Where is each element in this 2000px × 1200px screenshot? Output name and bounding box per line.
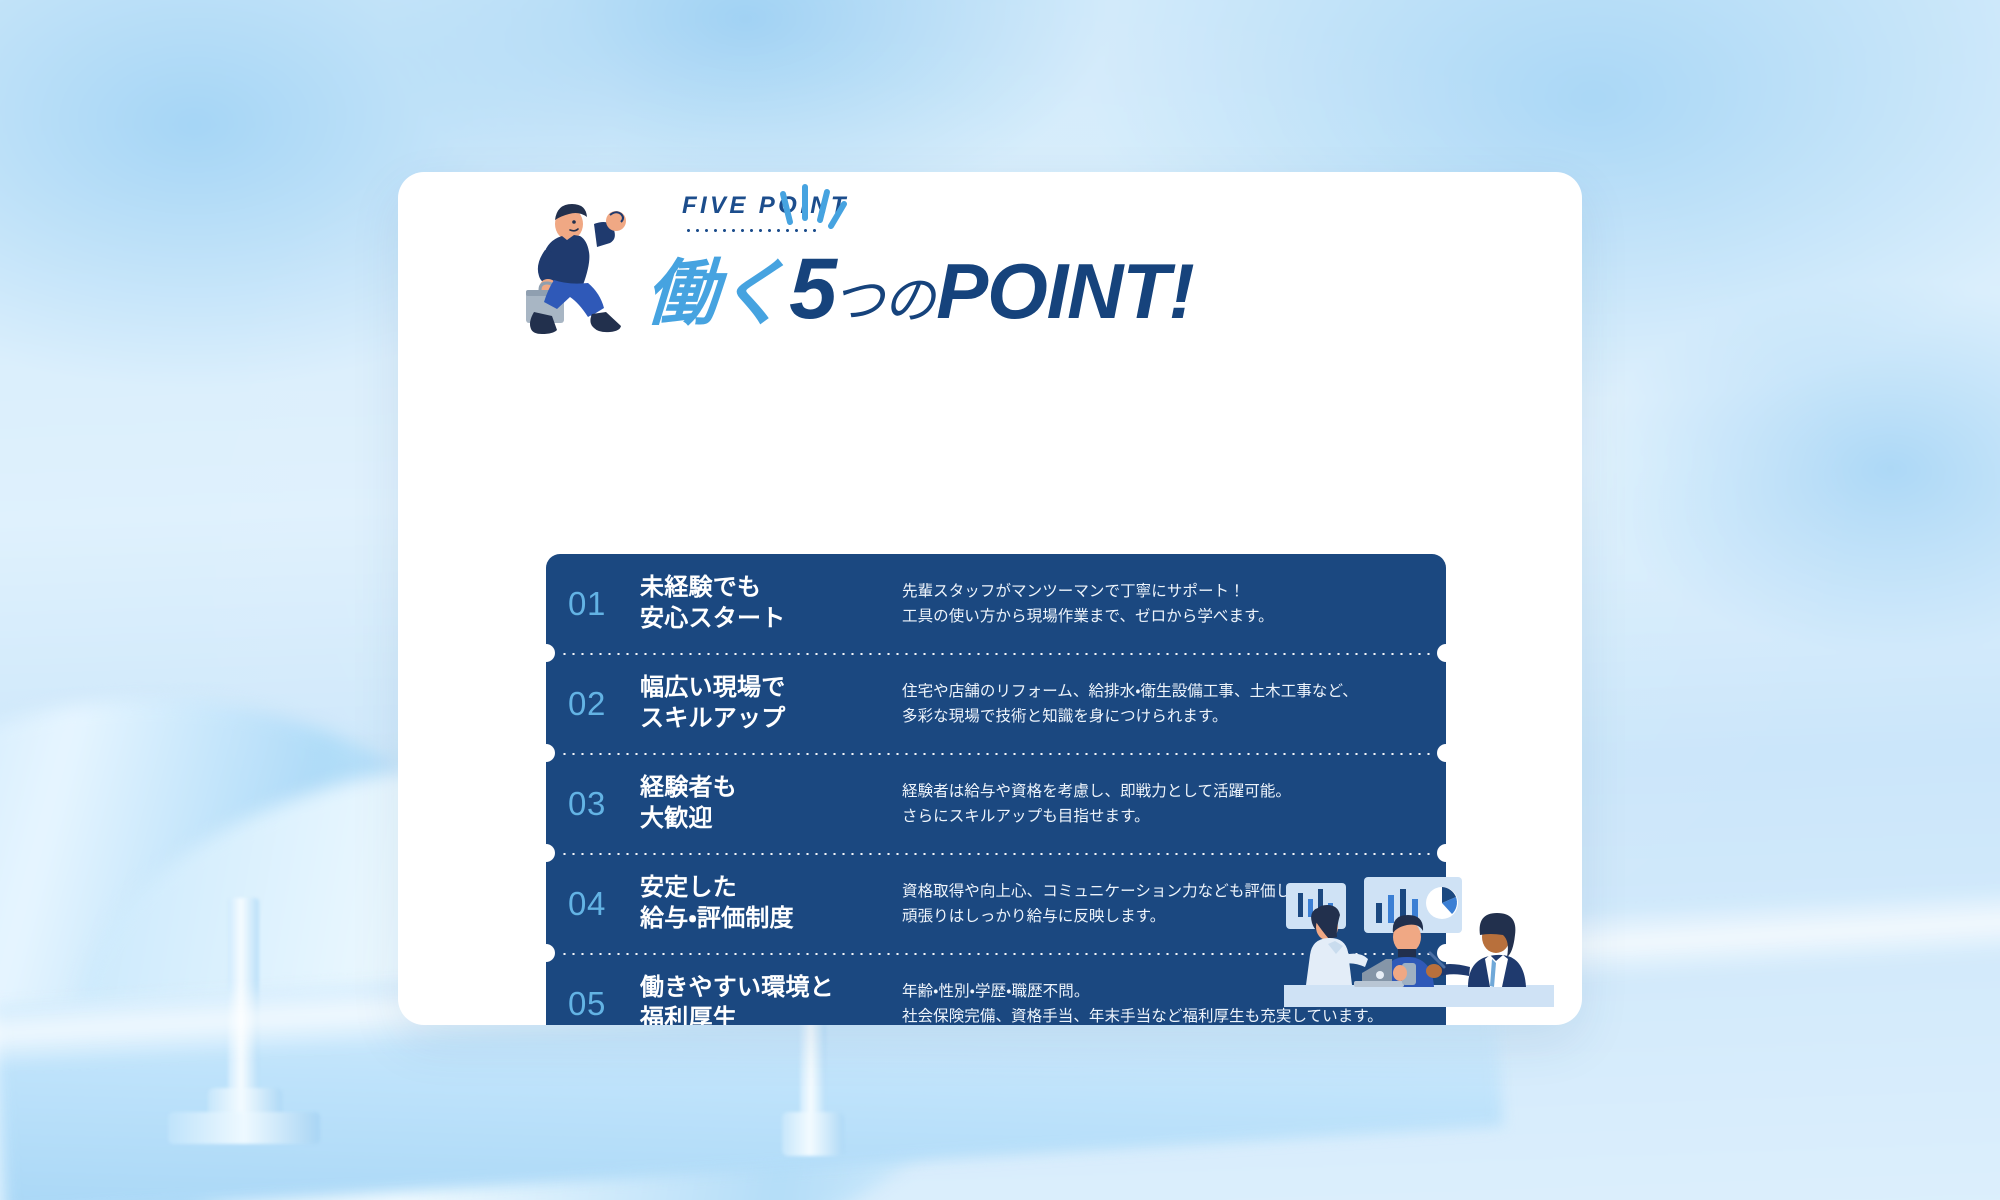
title-part-tsuno: つの — [832, 258, 934, 333]
point-row[interactable]: 01 未経験でも 安心スタート 先輩スタッフがマンツーマンで丁寧にサポート！ 工… — [546, 554, 1446, 654]
point-number: 05 — [568, 985, 640, 1023]
point-number: 03 — [568, 785, 640, 823]
point-desc-line1: 先輩スタッフがマンツーマンで丁寧にサポート！ — [902, 579, 1428, 604]
point-title: 安定した 給与・評価制度 — [640, 873, 902, 934]
point-title-line2: 福利厚生 — [640, 1004, 902, 1025]
point-description: 先輩スタッフがマンツーマンで丁寧にサポート！ 工具の使い方から現場作業まで、ゼロ… — [902, 579, 1446, 629]
point-title-line2: 給与・評価制度 — [640, 904, 902, 935]
dotted-line — [560, 853, 1432, 855]
point-number: 01 — [568, 585, 640, 623]
title-part-point: POINT! — [936, 246, 1193, 337]
point-number: 02 — [568, 685, 640, 723]
point-title-line1: 未経験でも — [640, 573, 902, 604]
point-title-line1: 幅広い現場で — [640, 673, 902, 704]
point-desc-line2: 多彩な現場で技術と知識を身につけられます。 — [902, 704, 1428, 729]
team-illustration-icon — [1284, 875, 1554, 1007]
perforation-divider — [546, 653, 1446, 655]
point-desc-line1: 住宅や店舗のリフォーム、給排水・衛生設備工事、土木工事など、 — [902, 679, 1428, 704]
point-row[interactable]: 03 経験者も 大歓迎 経験者は給与や資格を考慮し、即戦力として活躍可能。 さら… — [546, 754, 1446, 854]
point-title-line2: 大歓迎 — [640, 804, 902, 835]
perforation-divider — [546, 753, 1446, 755]
header: FIVE POINT 働く 5 つの POINT! — [398, 172, 1582, 372]
point-description: 経験者は給与や資格を考慮し、即戦力として活躍可能。 さらにスキルアップも目指せま… — [902, 779, 1446, 829]
point-desc-line2: さらにスキルアップも目指せます。 — [902, 804, 1428, 829]
point-desc-line1: 経験者は給与や資格を考慮し、即戦力として活躍可能。 — [902, 779, 1428, 804]
title-part-five: 5 — [789, 240, 834, 339]
point-desc-line2: 社会保険完備、資格手当、年末手当など福利厚生も充実しています。 — [902, 1004, 1428, 1025]
point-row[interactable]: 02 幅広い現場で スキルアップ 住宅や店舗のリフォーム、給排水・衛生設備工事、… — [546, 654, 1446, 754]
perforation-divider — [546, 853, 1446, 855]
point-title-line1: 働きやすい環境と — [640, 973, 902, 1004]
point-desc-line2: 工具の使い方から現場作業まで、ゼロから学べます。 — [902, 604, 1428, 629]
point-title: 未経験でも 安心スタート — [640, 573, 902, 634]
point-title-line1: 安定した — [640, 873, 902, 904]
point-title: 幅広い現場で スキルアップ — [640, 673, 902, 734]
content-card: FIVE POINT 働く 5 つの POINT! 01 — [398, 172, 1582, 1025]
point-description: 住宅や店舗のリフォーム、給排水・衛生設備工事、土木工事など、 多彩な現場で技術と… — [902, 679, 1446, 729]
running-businessman-icon — [512, 194, 652, 339]
point-title: 経験者も 大歓迎 — [640, 773, 902, 834]
title-part-hataraku: 働く — [643, 234, 790, 339]
point-title: 働きやすい環境と 福利厚生 — [640, 973, 902, 1025]
page-title: 働く 5 つの POINT! — [646, 234, 1194, 339]
point-title-line2: 安心スタート — [640, 604, 902, 635]
point-title-line2: スキルアップ — [640, 704, 902, 735]
point-title-line1: 経験者も — [640, 773, 902, 804]
point-number: 04 — [568, 885, 640, 923]
sparkle-burst-icon — [774, 178, 854, 230]
dotted-line — [560, 753, 1432, 755]
dotted-line — [560, 653, 1432, 655]
